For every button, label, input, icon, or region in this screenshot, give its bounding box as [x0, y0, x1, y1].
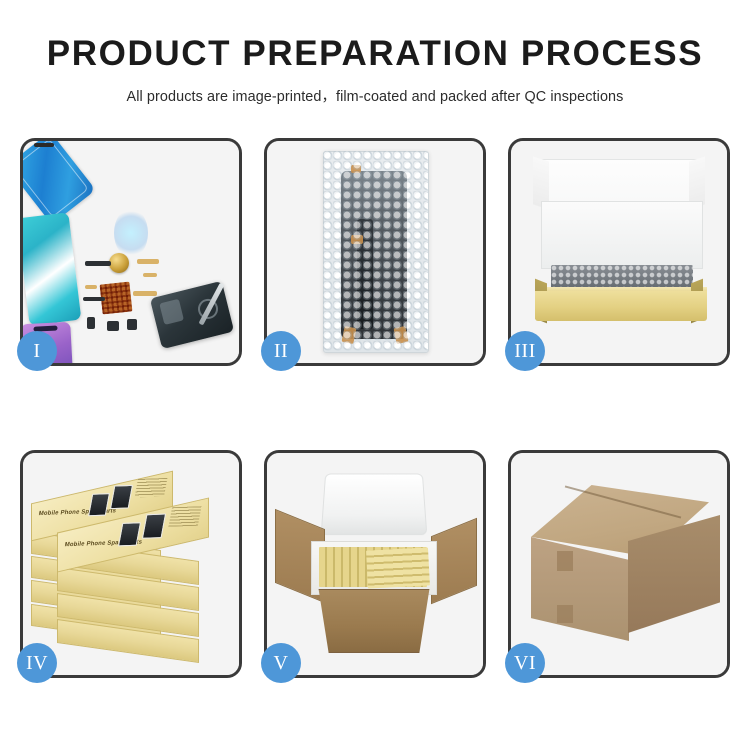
flex-cable-part	[137, 259, 159, 264]
chip-part	[83, 297, 105, 301]
chip-part	[85, 261, 111, 266]
process-step-grid: I II	[0, 138, 750, 678]
process-step-panel-1[interactable]: I	[20, 138, 242, 366]
yellow-boxes-row	[366, 547, 430, 588]
step-badge-1: I	[17, 331, 57, 371]
page-header: PRODUCT PREPARATION PROCESS All products…	[0, 0, 750, 106]
flex-cable-part	[85, 285, 97, 289]
box-print-text-lines	[135, 478, 168, 498]
process-step-panel-4[interactable]: Mobile Phone Spare Parts Mobile Phone Sp…	[20, 450, 242, 678]
box-print-thumbnail	[142, 513, 166, 538]
phone-back-housing	[150, 281, 234, 349]
white-foam-liner	[541, 201, 703, 269]
box-front-panel	[535, 291, 707, 321]
tape-piece	[351, 235, 363, 244]
page-subtitle: All products are image-printed，film-coat…	[0, 85, 750, 106]
phone-parts-scene	[23, 141, 239, 363]
page-title: PRODUCT PREPARATION PROCESS	[0, 36, 750, 73]
step-badge-4: IV	[17, 643, 57, 683]
carton-flap-right	[431, 518, 477, 605]
process-step-panel-3[interactable]: III	[508, 138, 730, 366]
bubble-wrap-scene	[267, 141, 483, 363]
carton-cooler-scene	[267, 453, 483, 675]
chip-part	[107, 321, 119, 331]
tape-piece	[351, 165, 361, 173]
step-badge-2: II	[261, 331, 301, 371]
box-print-thumbnail	[110, 485, 133, 509]
styrofoam-lid	[321, 474, 428, 536]
process-step-panel-2[interactable]: II	[264, 138, 486, 366]
step-4-photo: Mobile Phone Spare Parts Mobile Phone Sp…	[23, 453, 239, 675]
step-badge-5: V	[261, 643, 301, 683]
carton-front-panel	[311, 589, 437, 653]
sealed-carton-scene	[511, 453, 727, 675]
chip-part	[87, 317, 95, 329]
carton-left-face	[531, 537, 629, 641]
carton-tape-patch	[557, 551, 573, 571]
process-step-panel-5[interactable]: V	[264, 450, 486, 678]
step-badge-3: III	[505, 331, 545, 371]
step-5-photo	[267, 453, 483, 675]
process-step-panel-6[interactable]: VI	[508, 450, 730, 678]
step-2-photo	[267, 141, 483, 363]
flex-cable-part	[133, 291, 157, 296]
step-3-photo	[511, 141, 727, 363]
step-6-photo	[511, 453, 727, 675]
flex-cable-part	[143, 273, 157, 277]
gold-coil-part	[109, 253, 129, 273]
wrapped-screen-assembly	[341, 171, 407, 339]
step-badge-6: VI	[505, 643, 545, 683]
carton-tape-patch	[557, 605, 573, 623]
box-print-text-lines	[168, 506, 201, 527]
foam-box-scene	[511, 141, 727, 363]
phone-teal-gradient	[23, 212, 81, 326]
box-stack-scene: Mobile Phone Spare Parts Mobile Phone Sp…	[23, 453, 239, 675]
screen-protector-film	[23, 141, 96, 224]
chip-part	[127, 319, 137, 330]
step-1-photo	[23, 141, 239, 363]
